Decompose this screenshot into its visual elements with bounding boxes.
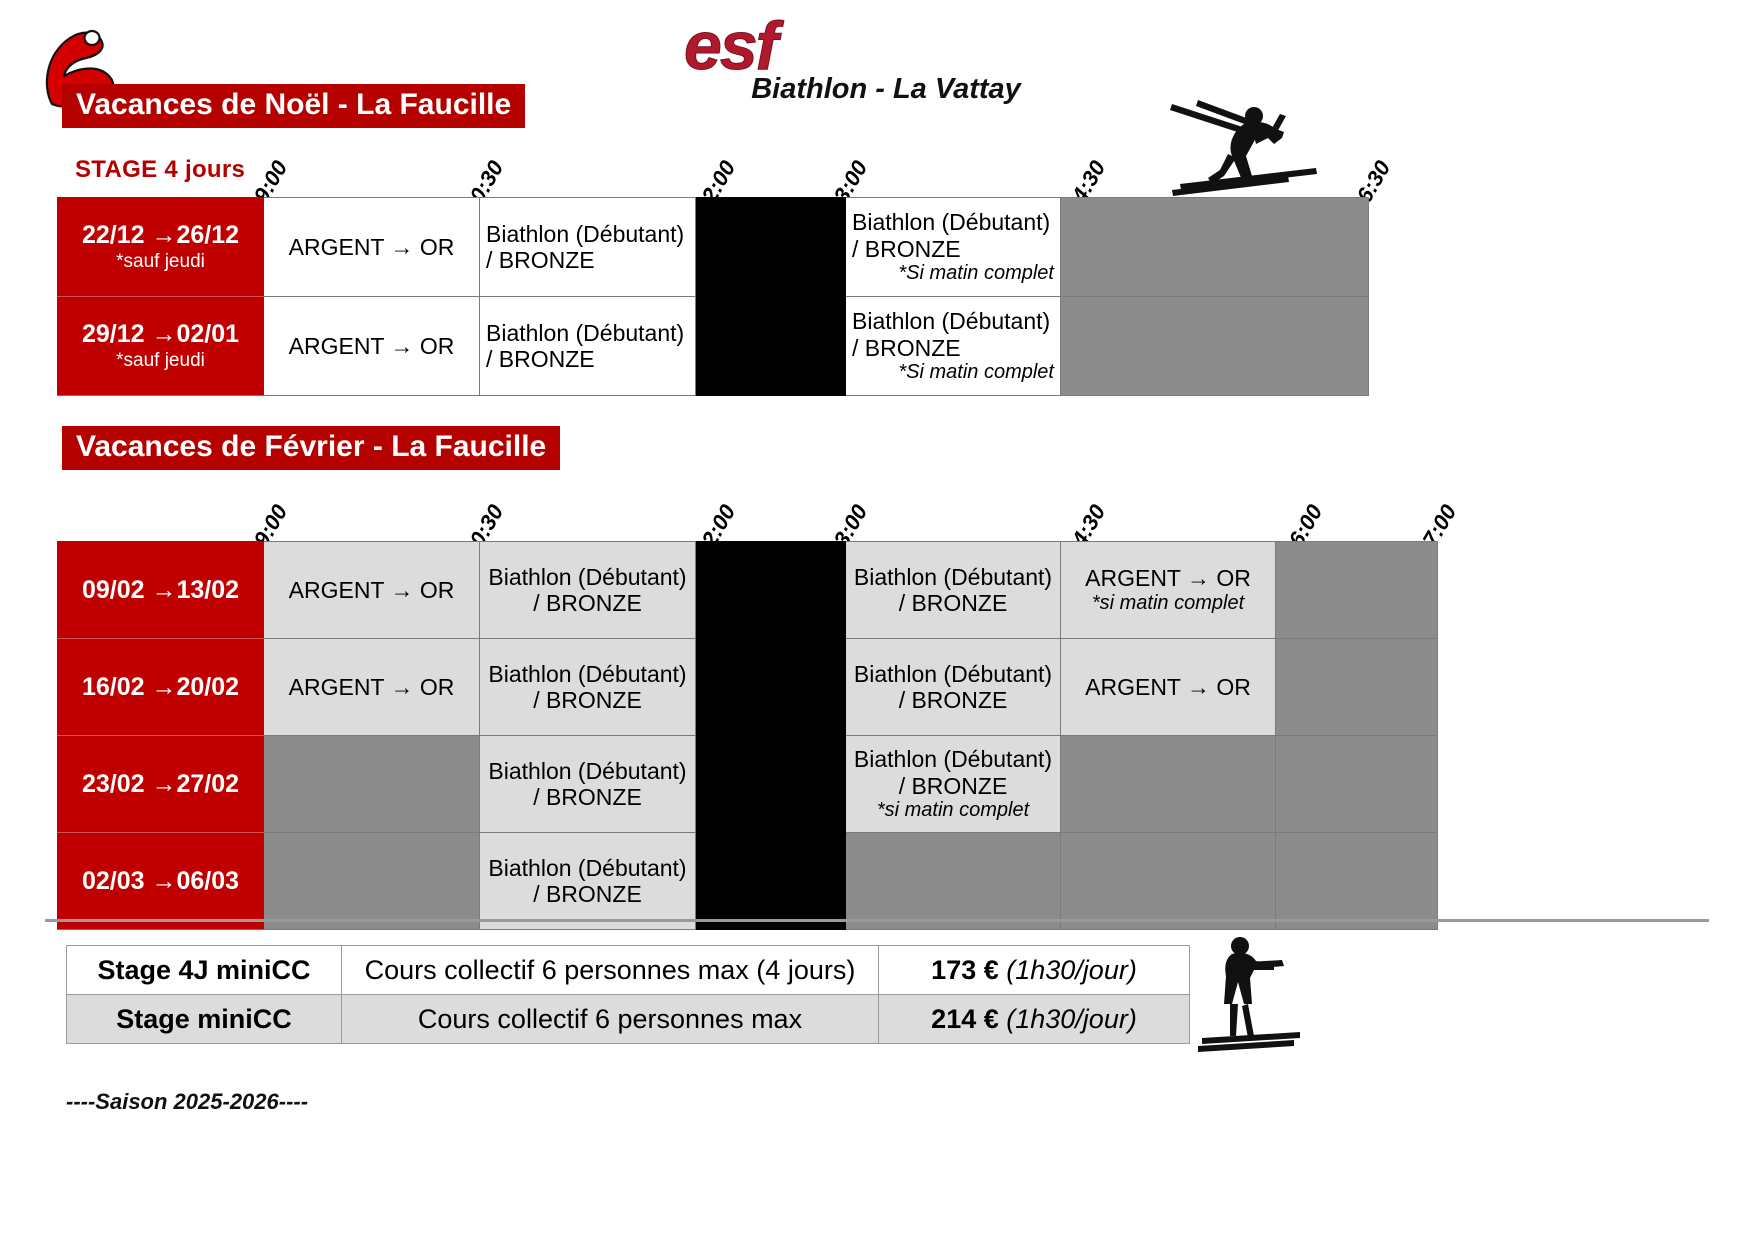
- schedule-cell-note: *si matin complet: [852, 799, 1054, 822]
- schedule-date-range: 22/12 →26/12: [82, 221, 239, 249]
- schedule-cell: [1276, 639, 1438, 736]
- schedule-date-note: *sauf jeudi: [62, 350, 259, 372]
- schedule-cell-text: Biathlon (Débutant) / BRONZE: [488, 661, 686, 713]
- schedule-table-noel: 22/12 →26/12*sauf jeudiARGENT → ORBiathl…: [57, 197, 1369, 396]
- schedule-date-cell: 02/03 →06/03: [58, 833, 264, 930]
- schedule-cell: ARGENT → OR: [264, 639, 480, 736]
- schedule-cell-text: ARGENT → OR: [289, 577, 455, 603]
- schedule-cell-note: *Si matin complet: [852, 262, 1054, 285]
- schedule-cell: [696, 297, 846, 396]
- schedule-cell-text: Biathlon (Débutant) / BRONZE: [488, 855, 686, 907]
- schedule-cell: Biathlon (Débutant) / BRONZE: [480, 736, 696, 833]
- schedule-cell: Biathlon (Débutant) / BRONZE*Si matin co…: [846, 297, 1061, 396]
- schedule-date-range: 09/02 →13/02: [82, 576, 239, 604]
- schedule-date-range: 16/02 →20/02: [82, 673, 239, 701]
- schedule-row: 22/12 →26/12*sauf jeudiARGENT → ORBiathl…: [58, 198, 1369, 297]
- schedule-cell-note: *si matin complet: [1067, 592, 1269, 615]
- schedule-cell: Biathlon (Débutant) / BRONZE: [480, 542, 696, 639]
- price-row: Stage 4J miniCCCours collectif 6 personn…: [67, 946, 1190, 995]
- schedule-cell-note: *Si matin complet: [852, 361, 1054, 384]
- schedule-cell: [1061, 736, 1276, 833]
- schedule-cell: [1061, 198, 1369, 297]
- esf-logo: esf Biathlon - La Vattay: [676, 14, 1096, 106]
- price-category: Stage 4J miniCC: [67, 946, 342, 995]
- schedule-cell-text: Biathlon (Débutant) / BRONZE: [486, 320, 684, 372]
- schedule-cell: Biathlon (Débutant) / BRONZE*si matin co…: [846, 736, 1061, 833]
- schedule-date-cell: 23/02 →27/02: [58, 736, 264, 833]
- section-banner-fevrier: Vacances de Février - La Faucille: [62, 426, 560, 470]
- schedule-cell: ARGENT → OR*si matin complet: [1061, 542, 1276, 639]
- schedule-date-cell: 09/02 →13/02: [58, 542, 264, 639]
- price-description: Cours collectif 6 personnes max (4 jours…: [342, 946, 879, 995]
- price-duration: (1h30/jour): [999, 1004, 1137, 1034]
- schedule-cell-text: Biathlon (Débutant) / BRONZE: [488, 564, 686, 616]
- schedule-cell: ARGENT → OR: [264, 198, 480, 297]
- schedule-cell-text: ARGENT → OR: [289, 333, 455, 359]
- price-value: 214 € (1h30/jour): [879, 995, 1190, 1044]
- section-banner-noel: Vacances de Noël - La Faucille: [62, 84, 525, 128]
- schedule-cell: Biathlon (Débutant) / BRONZE: [846, 639, 1061, 736]
- schedule-date-range: 23/02 →27/02: [82, 770, 239, 798]
- schedule-date-cell: 29/12 →02/01*sauf jeudi: [58, 297, 264, 396]
- schedule-cell: ARGENT → OR: [264, 297, 480, 396]
- schedule-table-fevrier: 09/02 →13/02ARGENT → ORBiathlon (Débutan…: [57, 541, 1438, 930]
- schedule-cell: ARGENT → OR: [264, 542, 480, 639]
- skier-silhouette-icon: [1168, 98, 1318, 198]
- price-table: Stage 4J miniCCCours collectif 6 personn…: [66, 945, 1190, 1044]
- schedule-cell: [696, 736, 846, 833]
- schedule-cell-text: ARGENT → OR: [1085, 565, 1251, 591]
- schedule-cell-text: Biathlon (Débutant) / BRONZE: [852, 209, 1050, 261]
- price-value: 173 € (1h30/jour): [879, 946, 1190, 995]
- schedule-cell: [696, 198, 846, 297]
- schedule-cell-text: ARGENT → OR: [289, 234, 455, 260]
- schedule-cell: [264, 736, 480, 833]
- schedule-cell: Biathlon (Débutant) / BRONZE*Si matin co…: [846, 198, 1061, 297]
- schedule-cell-text: ARGENT → OR: [289, 674, 455, 700]
- schedule-cell: Biathlon (Débutant) / BRONZE: [480, 297, 696, 396]
- schedule-cell: Biathlon (Débutant) / BRONZE: [846, 542, 1061, 639]
- schedule-date-cell: 22/12 →26/12*sauf jeudi: [58, 198, 264, 297]
- schedule-cell: [1276, 833, 1438, 930]
- price-amount: 214 €: [931, 1004, 999, 1034]
- price-duration: (1h30/jour): [999, 955, 1137, 985]
- schedule-cell-text: Biathlon (Débutant) / BRONZE: [486, 221, 684, 273]
- schedule-cell: ARGENT → OR: [1061, 639, 1276, 736]
- schedule-row: 16/02 →20/02ARGENT → ORBiathlon (Débutan…: [58, 639, 1438, 736]
- stage-label: STAGE 4 jours: [75, 156, 245, 184]
- schedule-cell-text: Biathlon (Débutant) / BRONZE: [488, 758, 686, 810]
- schedule-row: 02/03 →06/03Biathlon (Débutant) / BRONZE: [58, 833, 1438, 930]
- schedule-cell-text: Biathlon (Débutant) / BRONZE: [854, 746, 1052, 798]
- schedule-cell: [696, 639, 846, 736]
- schedule-cell-text: Biathlon (Débutant) / BRONZE: [854, 564, 1052, 616]
- schedule-cell: [1276, 542, 1438, 639]
- schedule-cell: [1061, 297, 1369, 396]
- schedule-cell: [846, 833, 1061, 930]
- esf-brand-text: esf: [684, 14, 1096, 79]
- price-row: Stage miniCCCours collectif 6 personnes …: [67, 995, 1190, 1044]
- schedule-row: 29/12 →02/01*sauf jeudiARGENT → ORBiathl…: [58, 297, 1369, 396]
- schedule-date-range: 29/12 →02/01: [82, 320, 239, 348]
- schedule-date-cell: 16/02 →20/02: [58, 639, 264, 736]
- schedule-row: 23/02 →27/02Biathlon (Débutant) / BRONZE…: [58, 736, 1438, 833]
- schedule-cell: Biathlon (Débutant) / BRONZE: [480, 198, 696, 297]
- schedule-cell: Biathlon (Débutant) / BRONZE: [480, 833, 696, 930]
- schedule-cell: [1276, 736, 1438, 833]
- schedule-row: 09/02 →13/02ARGENT → ORBiathlon (Débutan…: [58, 542, 1438, 639]
- season-footer: ----Saison 2025-2026----: [66, 1089, 308, 1115]
- schedule-cell: [1061, 833, 1276, 930]
- schedule-cell: [696, 833, 846, 930]
- schedule-date-range: 02/03 →06/03: [82, 867, 239, 895]
- price-description: Cours collectif 6 personnes max: [342, 995, 879, 1044]
- price-category: Stage miniCC: [67, 995, 342, 1044]
- price-amount: 173 €: [931, 955, 999, 985]
- schedule-cell-text: ARGENT → OR: [1085, 674, 1251, 700]
- schedule-date-note: *sauf jeudi: [62, 251, 259, 273]
- schedule-cell: [696, 542, 846, 639]
- horizontal-divider: [45, 919, 1709, 922]
- schedule-cell-text: Biathlon (Débutant) / BRONZE: [854, 661, 1052, 713]
- schedule-cell: [264, 833, 480, 930]
- biathlete-shooting-silhouette-icon: [1196, 930, 1306, 1060]
- schedule-cell: Biathlon (Débutant) / BRONZE: [480, 639, 696, 736]
- schedule-cell-text: Biathlon (Débutant) / BRONZE: [852, 308, 1050, 360]
